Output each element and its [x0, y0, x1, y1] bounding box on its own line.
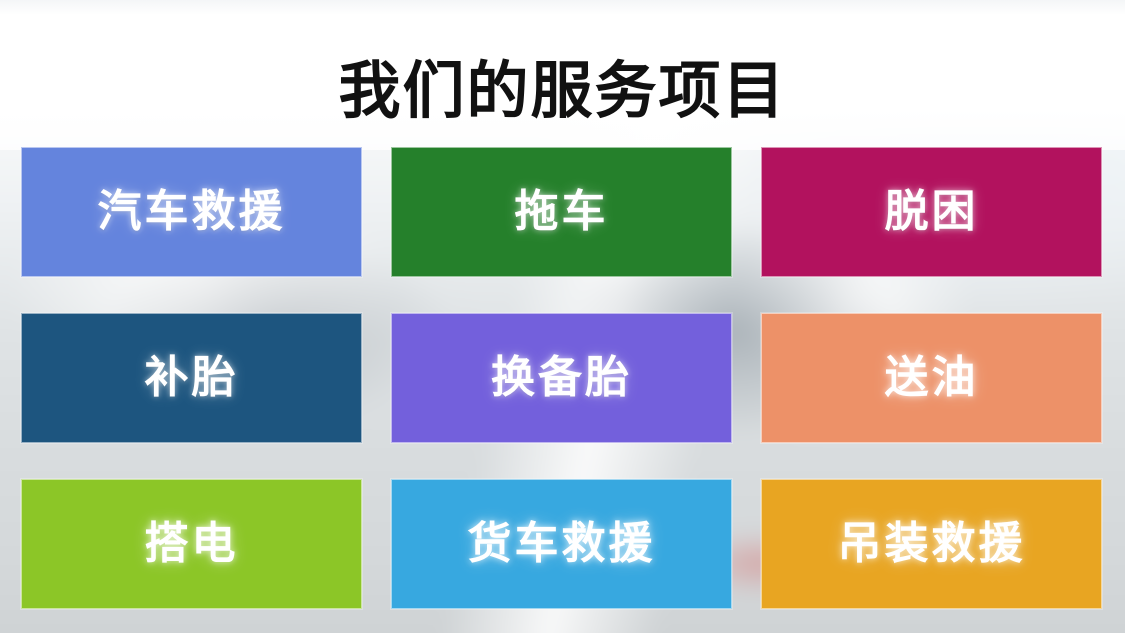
tile-tire-repair[interactable]: 补胎	[21, 313, 362, 443]
page-title: 我们的服务项目	[0, 59, 1125, 126]
tile-label: 送油	[885, 356, 979, 400]
tile-label: 吊装救援	[838, 522, 1026, 566]
tile-label: 脱困	[885, 190, 979, 234]
tile-label: 汽车救援	[98, 190, 286, 234]
service-items-poster: 我们的服务项目 汽车救援拖车脱困补胎换备胎送油搭电货车救援吊装救援	[0, 0, 1125, 633]
tile-label: 补胎	[145, 356, 239, 400]
tile-tow-truck[interactable]: 拖车	[391, 147, 732, 277]
tile-label: 货车救援	[468, 522, 656, 566]
service-tile-grid: 汽车救援拖车脱困补胎换备胎送油搭电货车救援吊装救援	[21, 147, 1103, 615]
tile-label: 拖车	[515, 190, 609, 234]
tile-hoisting-rescue[interactable]: 吊装救援	[761, 479, 1102, 609]
tile-spare-tire-change[interactable]: 换备胎	[391, 313, 732, 443]
tile-car-rescue[interactable]: 汽车救援	[21, 147, 362, 277]
tile-extrication[interactable]: 脱困	[761, 147, 1102, 277]
tile-fuel-delivery[interactable]: 送油	[761, 313, 1102, 443]
tile-label: 换备胎	[491, 356, 632, 400]
tile-truck-rescue[interactable]: 货车救援	[391, 479, 732, 609]
tile-label: 搭电	[145, 522, 239, 566]
tile-jump-start[interactable]: 搭电	[21, 479, 362, 609]
